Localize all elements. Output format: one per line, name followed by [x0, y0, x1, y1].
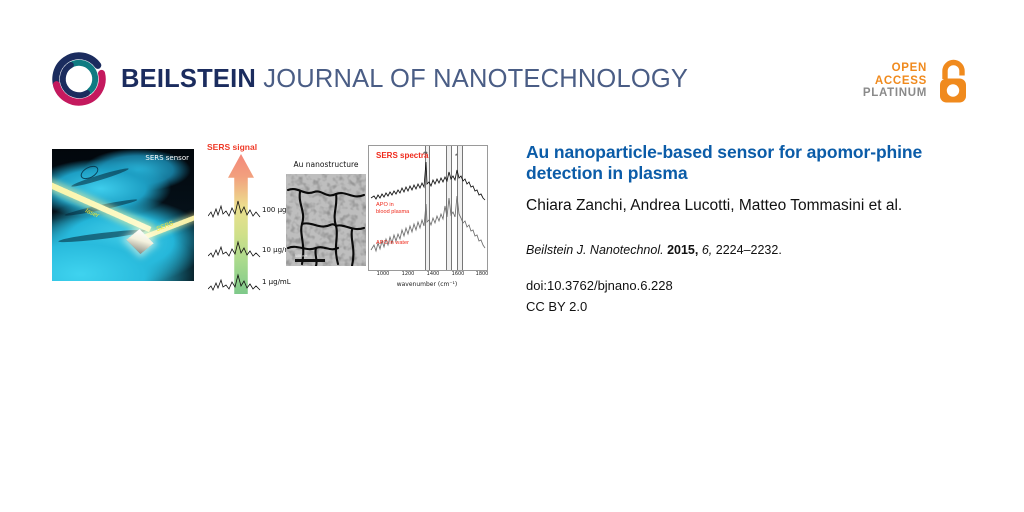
oa-line-access: ACCESS: [863, 75, 927, 88]
article-citation: Beilstein J. Nanotechnol. 2015, 6, 2224–…: [526, 242, 978, 259]
wordmark-journal-of-nanotechnology: JOURNAL OF NANOTECHNOLOGY: [256, 65, 688, 93]
oa-line-open: OPEN: [863, 62, 927, 75]
trace-apo-blood-plasma: [371, 162, 485, 200]
open-access-badge[interactable]: OPEN ACCESS PLATINUM: [863, 58, 972, 104]
masthead: BEILSTEIN JOURNAL OF NANOTECHNOLOGY OPEN…: [52, 52, 972, 114]
citation-year: 2015,: [667, 243, 698, 257]
xtick-1800: 1800: [476, 271, 489, 277]
spectrum-trace-1: [208, 270, 264, 292]
xtick-1200: 1200: [402, 271, 415, 277]
article-license[interactable]: CC BY 2.0: [526, 298, 978, 317]
sers-sensor-caption: SERS sensor: [145, 154, 189, 162]
au-nanostructure-panel: Au nanostructure: [280, 160, 372, 278]
sers-signal-title: SERS signal: [207, 142, 257, 152]
citation-pages: 2224–2232.: [716, 243, 782, 257]
spectra-xaxis-label: wavenumber (cm⁻¹): [362, 281, 492, 288]
oa-line-platinum: PLATINUM: [863, 87, 927, 100]
concentration-label-1: 1 µg/mL: [262, 278, 291, 286]
wordmark-beilstein: BEILSTEIN: [121, 65, 256, 93]
au-nanostructure-title: Au nanostructure: [280, 160, 372, 169]
beilstein-circle-logo-icon: [52, 52, 106, 106]
sem-micrograph-image: 500 nm: [286, 174, 366, 266]
marker-double-star: **: [423, 152, 428, 158]
scale-bar-label: 500 nm: [295, 254, 308, 258]
journal-wordmark: BEILSTEIN JOURNAL OF NANOTECHNOLOGY: [121, 65, 688, 93]
spectrum-trace-100: [208, 198, 264, 220]
xtick-1000: 1000: [377, 271, 390, 277]
scale-bar: [295, 259, 325, 262]
marker-single-star: *: [455, 154, 457, 160]
label-apo-blood-plasma: APO inblood plasma: [376, 202, 409, 215]
spectra-plot-frame: SERS spectra ** * APO inblood plasma APO…: [368, 145, 488, 271]
xtick-1600: 1600: [452, 271, 465, 277]
open-padlock-icon: [934, 58, 972, 104]
article-authors: Chiara Zanchi, Andrea Lucotti, Matteo To…: [526, 196, 978, 216]
citation-volume: 6,: [702, 243, 712, 257]
article-title[interactable]: Au nanoparticle-based sensor for apomor-…: [526, 142, 978, 185]
xtick-1400: 1400: [427, 271, 440, 277]
sers-spectra-panel: SERS spectra ** * APO inblood plasma APO…: [362, 145, 492, 293]
spectrum-trace-10: [208, 238, 264, 260]
graphical-abstract: SERS sensor laser SERS SERS signal 100 µ…: [52, 142, 492, 294]
article-doi[interactable]: doi:10.3762/bjnano.6.228: [526, 277, 978, 296]
open-access-badge-text: OPEN ACCESS PLATINUM: [863, 62, 927, 101]
journal-brand-lockup[interactable]: BEILSTEIN JOURNAL OF NANOTECHNOLOGY: [52, 52, 688, 106]
article-metadata: Au nanoparticle-based sensor for apomor-…: [526, 142, 978, 316]
label-apo-water: APO in water: [376, 240, 409, 247]
citation-journal: Beilstein J. Nanotechnol.: [526, 243, 664, 257]
sem-texture: [286, 174, 366, 266]
sers-sensor-photo-panel: SERS sensor laser SERS: [52, 149, 194, 281]
sers-spectra-title: SERS spectra: [376, 151, 428, 160]
